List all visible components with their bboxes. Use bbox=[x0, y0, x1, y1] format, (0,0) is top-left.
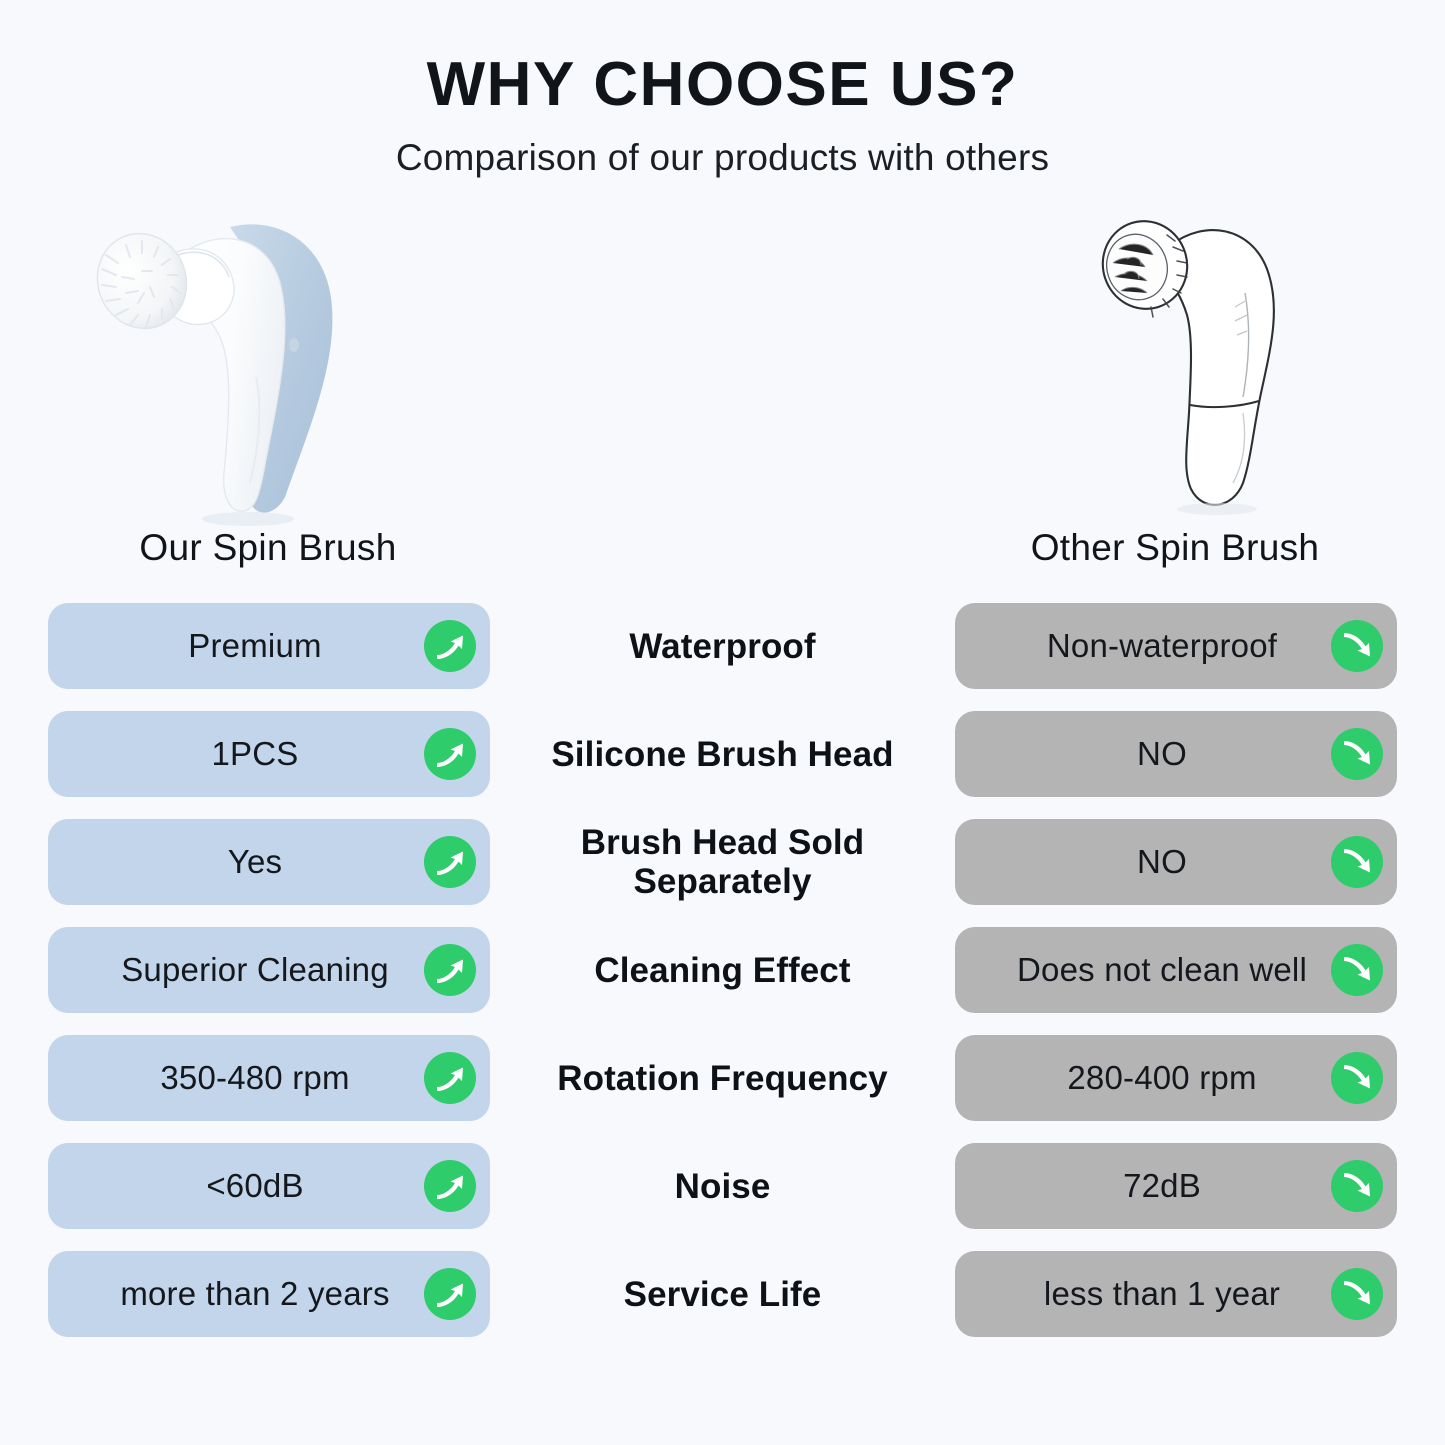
arrow-down-swoosh-icon bbox=[1331, 1268, 1383, 1320]
other-value-cell: NO bbox=[955, 819, 1397, 905]
comparison-row: <60dBNoise72dB bbox=[48, 1143, 1397, 1229]
product-images bbox=[0, 197, 1445, 527]
arrow-up-swoosh-icon bbox=[424, 620, 476, 672]
column-captions: Our Spin Brush Other Spin Brush bbox=[0, 527, 1445, 589]
comparison-row: PremiumWaterproofNon-waterproof bbox=[48, 603, 1397, 689]
comparison-row: YesBrush Head SoldSeparatelyNO bbox=[48, 819, 1397, 905]
our-value-cell: Superior Cleaning bbox=[48, 927, 490, 1013]
other-value-cell: Non-waterproof bbox=[955, 603, 1397, 689]
other-value-cell: NO bbox=[955, 711, 1397, 797]
arrow-up-swoosh-icon bbox=[424, 1052, 476, 1104]
our-value-cell: Yes bbox=[48, 819, 490, 905]
page-subtitle: Comparison of our products with others bbox=[0, 137, 1445, 179]
our-column-caption: Our Spin Brush bbox=[48, 527, 488, 569]
arrow-down-swoosh-icon bbox=[1331, 1160, 1383, 1212]
feature-label: Brush Head SoldSeparately bbox=[490, 823, 955, 901]
arrow-up-swoosh-icon bbox=[424, 1268, 476, 1320]
our-value-cell: 1PCS bbox=[48, 711, 490, 797]
feature-label: Service Life bbox=[490, 1275, 955, 1314]
our-value-text: Superior Cleaning bbox=[121, 951, 417, 989]
other-product-image bbox=[995, 197, 1415, 527]
page-header: WHY CHOOSE US? Comparison of our product… bbox=[0, 0, 1445, 179]
other-value-text: 280-400 rpm bbox=[1067, 1059, 1284, 1097]
arrow-up-swoosh-icon bbox=[424, 944, 476, 996]
our-value-text: Premium bbox=[188, 627, 349, 665]
our-value-text: 1PCS bbox=[211, 735, 326, 773]
our-value-cell: 350-480 rpm bbox=[48, 1035, 490, 1121]
other-value-cell: 280-400 rpm bbox=[955, 1035, 1397, 1121]
arrow-down-swoosh-icon bbox=[1331, 1052, 1383, 1104]
feature-label: Rotation Frequency bbox=[490, 1059, 955, 1098]
spin-brush-blue-white-icon bbox=[80, 197, 380, 527]
our-value-text: more than 2 years bbox=[120, 1275, 417, 1313]
arrow-down-swoosh-icon bbox=[1331, 944, 1383, 996]
our-value-cell: Premium bbox=[48, 603, 490, 689]
feature-label: Waterproof bbox=[490, 627, 955, 666]
other-value-text: Non-waterproof bbox=[1047, 627, 1305, 665]
our-value-cell: <60dB bbox=[48, 1143, 490, 1229]
our-value-text: 350-480 rpm bbox=[160, 1059, 377, 1097]
our-value-cell: more than 2 years bbox=[48, 1251, 490, 1337]
feature-label: Noise bbox=[490, 1167, 955, 1206]
other-value-cell: less than 1 year bbox=[955, 1251, 1397, 1337]
arrow-down-swoosh-icon bbox=[1331, 620, 1383, 672]
our-product-image bbox=[20, 197, 440, 527]
arrow-up-swoosh-icon bbox=[424, 728, 476, 780]
other-value-text: Does not clean well bbox=[1017, 951, 1335, 989]
our-value-text: <60dB bbox=[206, 1167, 331, 1205]
other-column-caption: Other Spin Brush bbox=[955, 527, 1395, 569]
other-value-text: less than 1 year bbox=[1044, 1275, 1308, 1313]
our-value-text: Yes bbox=[228, 843, 310, 881]
feature-label: Cleaning Effect bbox=[490, 951, 955, 990]
arrow-up-swoosh-icon bbox=[424, 1160, 476, 1212]
comparison-table: PremiumWaterproofNon-waterproof1PCSSilic… bbox=[0, 603, 1445, 1337]
arrow-down-swoosh-icon bbox=[1331, 728, 1383, 780]
arrow-up-swoosh-icon bbox=[424, 836, 476, 888]
comparison-row: more than 2 yearsService Lifeless than 1… bbox=[48, 1251, 1397, 1337]
feature-label: Silicone Brush Head bbox=[490, 735, 955, 774]
arrow-down-swoosh-icon bbox=[1331, 836, 1383, 888]
comparison-row: 1PCSSilicone Brush HeadNO bbox=[48, 711, 1397, 797]
other-value-cell: Does not clean well bbox=[955, 927, 1397, 1013]
other-value-text: NO bbox=[1137, 735, 1215, 773]
spin-brush-outline-icon bbox=[1075, 197, 1335, 527]
comparison-row: 350-480 rpmRotation Frequency280-400 rpm bbox=[48, 1035, 1397, 1121]
page-title: WHY CHOOSE US? bbox=[0, 52, 1445, 117]
other-value-text: NO bbox=[1137, 843, 1215, 881]
other-value-cell: 72dB bbox=[955, 1143, 1397, 1229]
comparison-row: Superior CleaningCleaning EffectDoes not… bbox=[48, 927, 1397, 1013]
other-value-text: 72dB bbox=[1123, 1167, 1229, 1205]
